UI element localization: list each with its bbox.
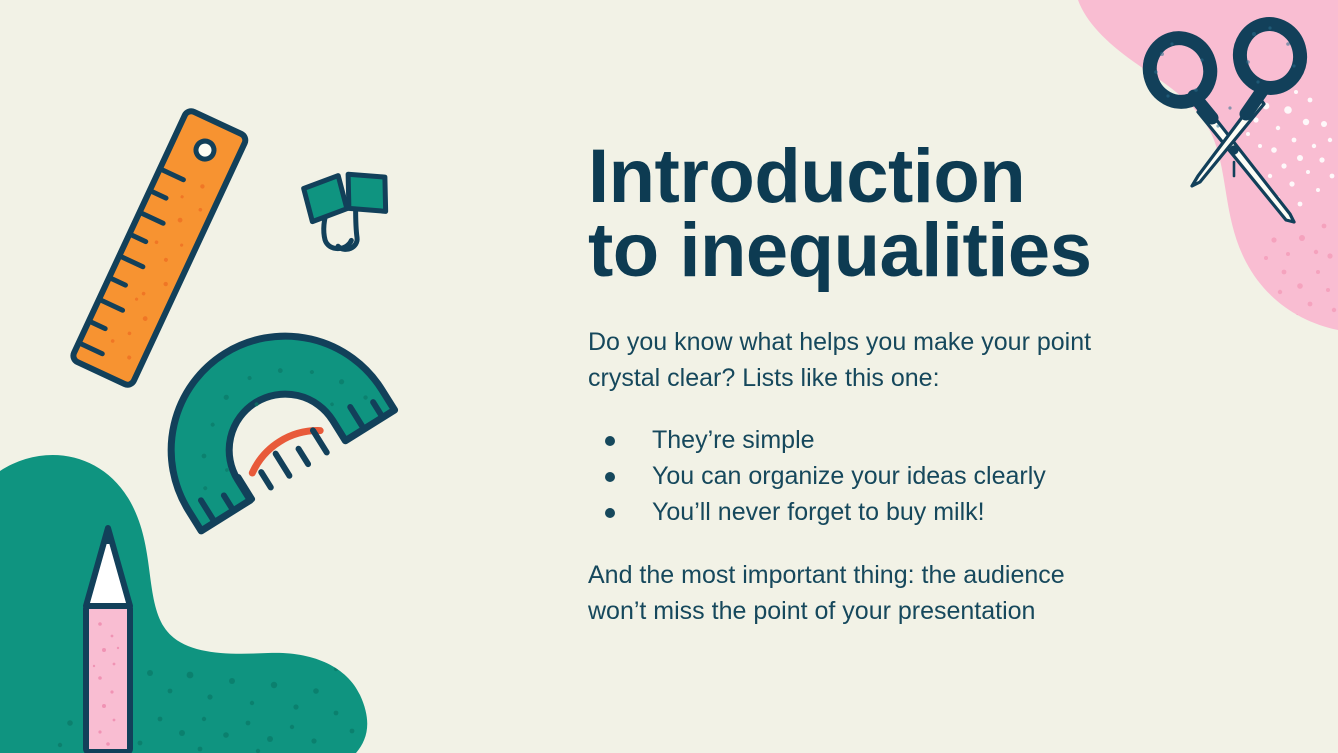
binder-clip-shape: [295, 152, 410, 267]
scissors-illustration: [1138, 0, 1338, 240]
protractor-illustration: [150, 325, 415, 555]
protractor-shape: [150, 325, 415, 555]
pencil-illustration: [78, 520, 138, 753]
intro-paragraph: Do you know what helps you make your poi…: [588, 325, 1168, 396]
list-item: You can organize your ideas clearly: [605, 458, 1168, 494]
list-item: You’ll never forget to buy milk!: [605, 494, 1168, 530]
list-item: They’re simple: [605, 422, 1168, 458]
ruler-illustration: [55, 105, 270, 390]
green-blob: [0, 423, 420, 753]
bullet-list: They’re simple You can organize your ide…: [588, 422, 1168, 530]
binder-clip-illustration: [295, 152, 410, 267]
green-blob-shape: [0, 423, 420, 753]
slide-canvas: Introduction to inequalities Do you know…: [0, 0, 1338, 753]
slide-text-content: Introduction to inequalities Do you know…: [588, 140, 1168, 629]
scissors-shape: [1138, 0, 1338, 240]
ruler-shape: [55, 105, 270, 390]
pencil-shape: [78, 520, 138, 753]
closing-paragraph: And the most important thing: the audien…: [588, 558, 1168, 629]
page-title: Introduction to inequalities: [588, 140, 1168, 287]
